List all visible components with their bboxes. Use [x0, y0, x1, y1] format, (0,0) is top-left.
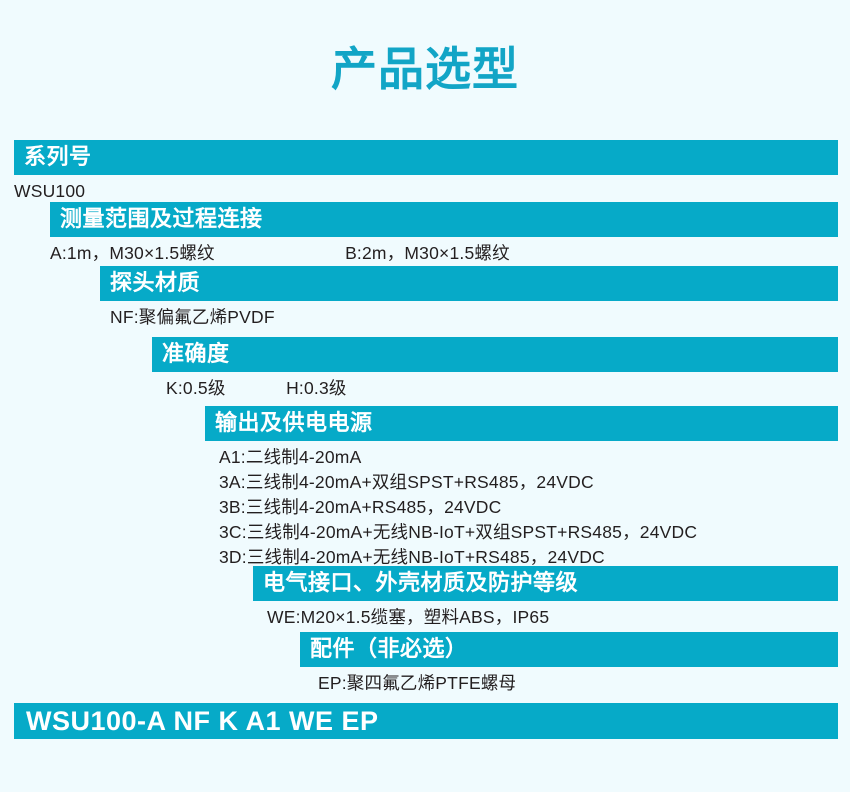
- option-text-a: K:0.5级: [166, 376, 281, 401]
- option-line[interactable]: NF:聚偏氟乙烯PVDF: [110, 305, 838, 330]
- section-heading-range-process-connection: 测量范围及过程连接: [50, 202, 838, 237]
- section-probe-material: 探头材质 NF:聚偏氟乙烯PVDF: [100, 266, 838, 330]
- option-line[interactable]: WSU100: [14, 179, 838, 204]
- section-options-accuracy: K:0.5级 H:0.3级: [152, 372, 838, 401]
- section-options-probe-material: NF:聚偏氟乙烯PVDF: [100, 301, 838, 330]
- option-text: 3A:三线制4-20mA+双组SPST+RS485，24VDC: [219, 470, 594, 495]
- section-heading-electrical-housing-protection: 电气接口、外壳材质及防护等级: [253, 566, 838, 601]
- option-line[interactable]: WE:M20×1.5缆塞，塑料ABS，IP65: [267, 605, 838, 630]
- option-text: NF:聚偏氟乙烯PVDF: [110, 305, 275, 330]
- option-line[interactable]: K:0.5级 H:0.3级: [166, 376, 838, 401]
- section-series-no: 系列号 WSU100: [14, 140, 838, 204]
- option-line[interactable]: A1:二线制4-20mA: [219, 445, 838, 470]
- section-output-power-supply: 输出及供电电源 A1:二线制4-20mA 3A:三线制4-20mA+双组SPST…: [205, 406, 838, 570]
- option-line[interactable]: 3A:三线制4-20mA+双组SPST+RS485，24VDC: [219, 470, 838, 495]
- section-range-process-connection: 测量范围及过程连接 A:1m，M30×1.5螺纹 B:2m，M30×1.5螺纹: [50, 202, 838, 266]
- section-options-series-no: WSU100: [14, 175, 838, 204]
- option-text: EP:聚四氟乙烯PTFE螺母: [318, 671, 516, 696]
- option-text-a: A:1m，M30×1.5螺纹: [50, 241, 340, 266]
- section-accuracy: 准确度 K:0.5级 H:0.3级: [152, 337, 838, 401]
- option-text: 3C:三线制4-20mA+无线NB-IoT+双组SPST+RS485，24VDC: [219, 520, 697, 545]
- section-accessories: 配件（非必选） EP:聚四氟乙烯PTFE螺母: [300, 632, 838, 696]
- product-selection-page: 产品选型 系列号 WSU100 测量范围及过程连接 A:1m，M30×1.5螺纹…: [0, 0, 850, 792]
- option-text: WSU100: [14, 179, 85, 204]
- section-heading-probe-material: 探头材质: [100, 266, 838, 301]
- model-code-bar: WSU100-A NF K A1 WE EP: [14, 703, 838, 739]
- option-line[interactable]: 3B:三线制4-20mA+RS485，24VDC: [219, 495, 838, 520]
- option-text-b: H:0.3级: [286, 376, 347, 401]
- option-line[interactable]: A:1m，M30×1.5螺纹 B:2m，M30×1.5螺纹: [50, 241, 838, 266]
- section-options-electrical-housing-protection: WE:M20×1.5缆塞，塑料ABS，IP65: [253, 601, 838, 630]
- option-text: WE:M20×1.5缆塞，塑料ABS，IP65: [267, 605, 549, 630]
- page-title: 产品选型: [0, 44, 850, 95]
- option-text: 3B:三线制4-20mA+RS485，24VDC: [219, 495, 501, 520]
- section-electrical-housing-protection: 电气接口、外壳材质及防护等级 WE:M20×1.5缆塞，塑料ABS，IP65: [253, 566, 838, 630]
- section-heading-accuracy: 准确度: [152, 337, 838, 372]
- section-options-accessories: EP:聚四氟乙烯PTFE螺母: [300, 667, 838, 696]
- section-heading-accessories: 配件（非必选）: [300, 632, 838, 667]
- option-line[interactable]: EP:聚四氟乙烯PTFE螺母: [318, 671, 838, 696]
- option-text-b: B:2m，M30×1.5螺纹: [345, 241, 510, 266]
- option-text: A1:二线制4-20mA: [219, 445, 361, 470]
- option-line[interactable]: 3C:三线制4-20mA+无线NB-IoT+双组SPST+RS485，24VDC: [219, 520, 838, 545]
- section-heading-series-no: 系列号: [14, 140, 838, 175]
- section-options-range-process-connection: A:1m，M30×1.5螺纹 B:2m，M30×1.5螺纹: [50, 237, 838, 266]
- section-heading-output-power-supply: 输出及供电电源: [205, 406, 838, 441]
- section-options-output-power-supply: A1:二线制4-20mA 3A:三线制4-20mA+双组SPST+RS485，2…: [205, 441, 838, 570]
